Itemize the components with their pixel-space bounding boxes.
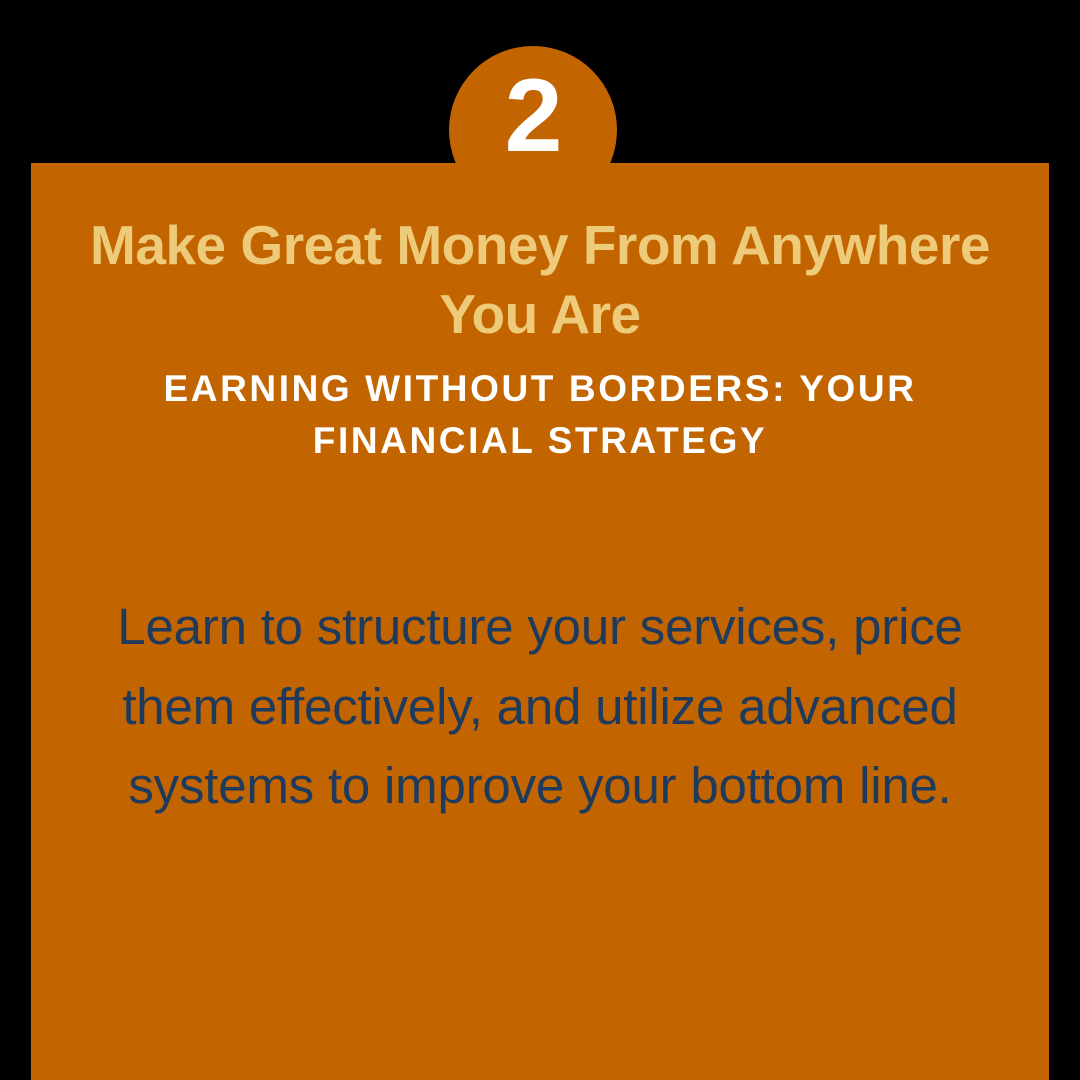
card-subheadline: Earning Without Borders: Your Financial …	[31, 363, 1049, 468]
card-headline: Make Great Money From Anywhere You Are	[31, 211, 1049, 349]
card-body-text: Learn to structure your services, price …	[31, 587, 1049, 826]
title-group: Make Great Money From Anywhere You Are E…	[31, 211, 1049, 468]
slide-canvas: 2 Make Great Money From Anywhere You Are…	[0, 0, 1080, 1080]
content-card: Make Great Money From Anywhere You Are E…	[31, 163, 1049, 1080]
body-group: Learn to structure your services, price …	[31, 587, 1049, 826]
step-number-label: 2	[505, 64, 562, 168]
